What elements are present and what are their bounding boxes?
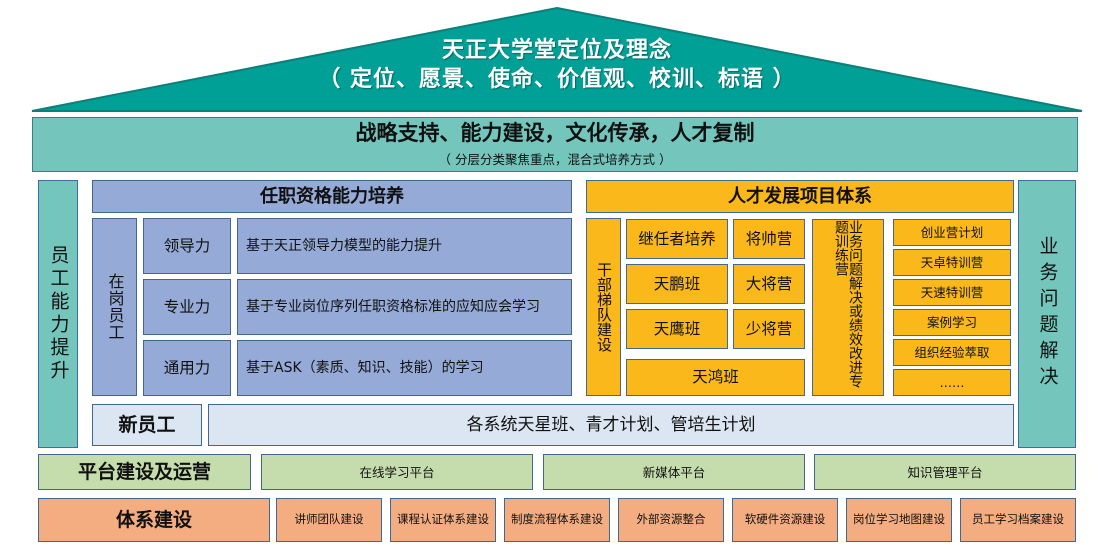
- banner-sub-text: （ 分层分类聚焦重点，混合式培养方式 ）: [439, 149, 672, 168]
- system-trainer-team: 讲师团队建设: [276, 498, 382, 542]
- program-more-ellipsis: ……: [893, 369, 1011, 396]
- platform-online-learning: 在线学习平台: [261, 454, 533, 490]
- program-tiansu-camp: 天速特训营: [893, 279, 1011, 306]
- program-startup-camp: 创业营计划: [893, 219, 1011, 246]
- newcomer-label: 新员工: [92, 404, 202, 446]
- cadre-pipeline-label: 干部梯队建设: [586, 218, 621, 396]
- program-case-study: 案例学习: [893, 309, 1011, 336]
- program-tianzhuo-camp: 天卓特训营: [893, 249, 1011, 276]
- roof-shape: 天正大学堂定位及理念 （ 定位、愿景、使命、价值观、校训、标语 ）: [30, 6, 1084, 116]
- skill-leadership: 领导力: [143, 218, 231, 274]
- system-learning-archive: 员工学习档案建设: [960, 498, 1076, 542]
- skill-leadership-desc: 基于天正领导力模型的能力提升: [237, 218, 572, 274]
- skill-professional: 专业力: [143, 279, 231, 335]
- system-hardware-software: 软硬件资源建设: [732, 498, 838, 542]
- program-experience-extraction: 组织经验萃取: [893, 339, 1011, 366]
- talent-general-camp: 将帅营: [733, 219, 805, 259]
- newcomer-programs: 各系统天星班、青才计划、管培生计划: [208, 404, 1014, 446]
- banner-main-text: 战略支持、能力建设，文化传承，人才复制: [356, 121, 755, 145]
- strategy-banner: 战略支持、能力建设，文化传承，人才复制 （ 分层分类聚焦重点，混合式培养方式 ）: [32, 117, 1078, 172]
- qualification-header: 任职资格能力培养: [92, 180, 572, 213]
- system-process-institution: 制度流程体系建设: [504, 498, 610, 542]
- skill-general: 通用力: [143, 340, 231, 396]
- platform-new-media: 新媒体平台: [543, 454, 805, 490]
- roof-title: 天正大学堂定位及理念: [30, 36, 1084, 65]
- talent-header: 人才发展项目体系: [586, 180, 1014, 213]
- talent-tianhong-class: 天鸿班: [626, 359, 805, 396]
- talent-tianying-class: 天鹰班: [626, 309, 728, 349]
- pillar-business-problem: 业务问题解决: [1018, 180, 1076, 448]
- talent-junior-general-camp: 少将营: [733, 309, 805, 349]
- platform-label: 平台建设及运营: [38, 454, 251, 490]
- talent-tianpeng-class: 天鹏班: [626, 264, 728, 304]
- group-label-onjob: 在岗员工: [92, 218, 137, 396]
- talent-successor-program: 继任者培养: [626, 219, 728, 259]
- roof-text-block: 天正大学堂定位及理念 （ 定位、愿景、使命、价值观、校训、标语 ）: [30, 36, 1084, 94]
- system-learning-map: 岗位学习地图建设: [846, 498, 952, 542]
- talent-major-general-camp: 大将营: [733, 264, 805, 304]
- system-course-certification: 课程认证体系建设: [390, 498, 496, 542]
- talent-problem-solving-camp: 业务问题解决或绩效改进专题训练营: [812, 219, 884, 396]
- skill-professional-desc: 基于专业岗位序列任职资格标准的应知应会学习: [237, 279, 572, 335]
- skill-general-desc: 基于ASK（素质、知识、技能）的学习: [237, 340, 572, 396]
- roof-subtitle: （ 定位、愿景、使命、价值观、校训、标语 ）: [30, 65, 1084, 94]
- system-external-resources: 外部资源整合: [618, 498, 724, 542]
- pillar-left-label: 员工能力提升: [49, 245, 68, 383]
- platform-knowledge-management: 知识管理平台: [814, 454, 1076, 490]
- system-label: 体系建设: [38, 498, 270, 542]
- diagram-canvas: 天正大学堂定位及理念 （ 定位、愿景、使命、价值观、校训、标语 ） 战略支持、能…: [0, 0, 1114, 551]
- pillar-employee-capability: 员工能力提升: [38, 180, 78, 448]
- pillar-right-label: 业务问题解决: [1038, 236, 1057, 392]
